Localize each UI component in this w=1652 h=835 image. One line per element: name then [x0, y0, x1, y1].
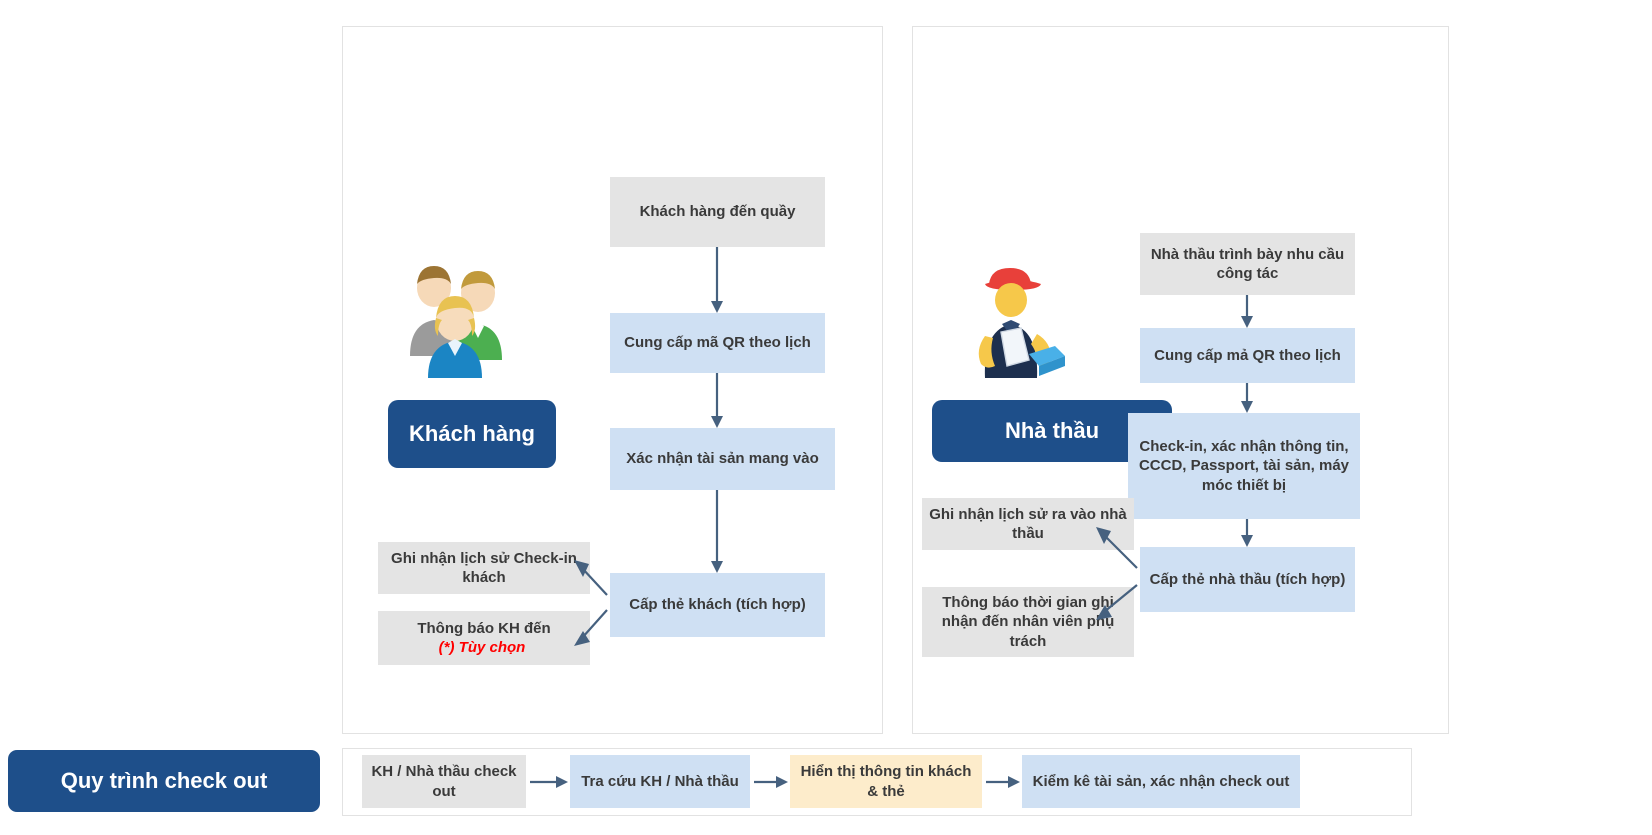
- checkout-connectors: [0, 0, 1652, 835]
